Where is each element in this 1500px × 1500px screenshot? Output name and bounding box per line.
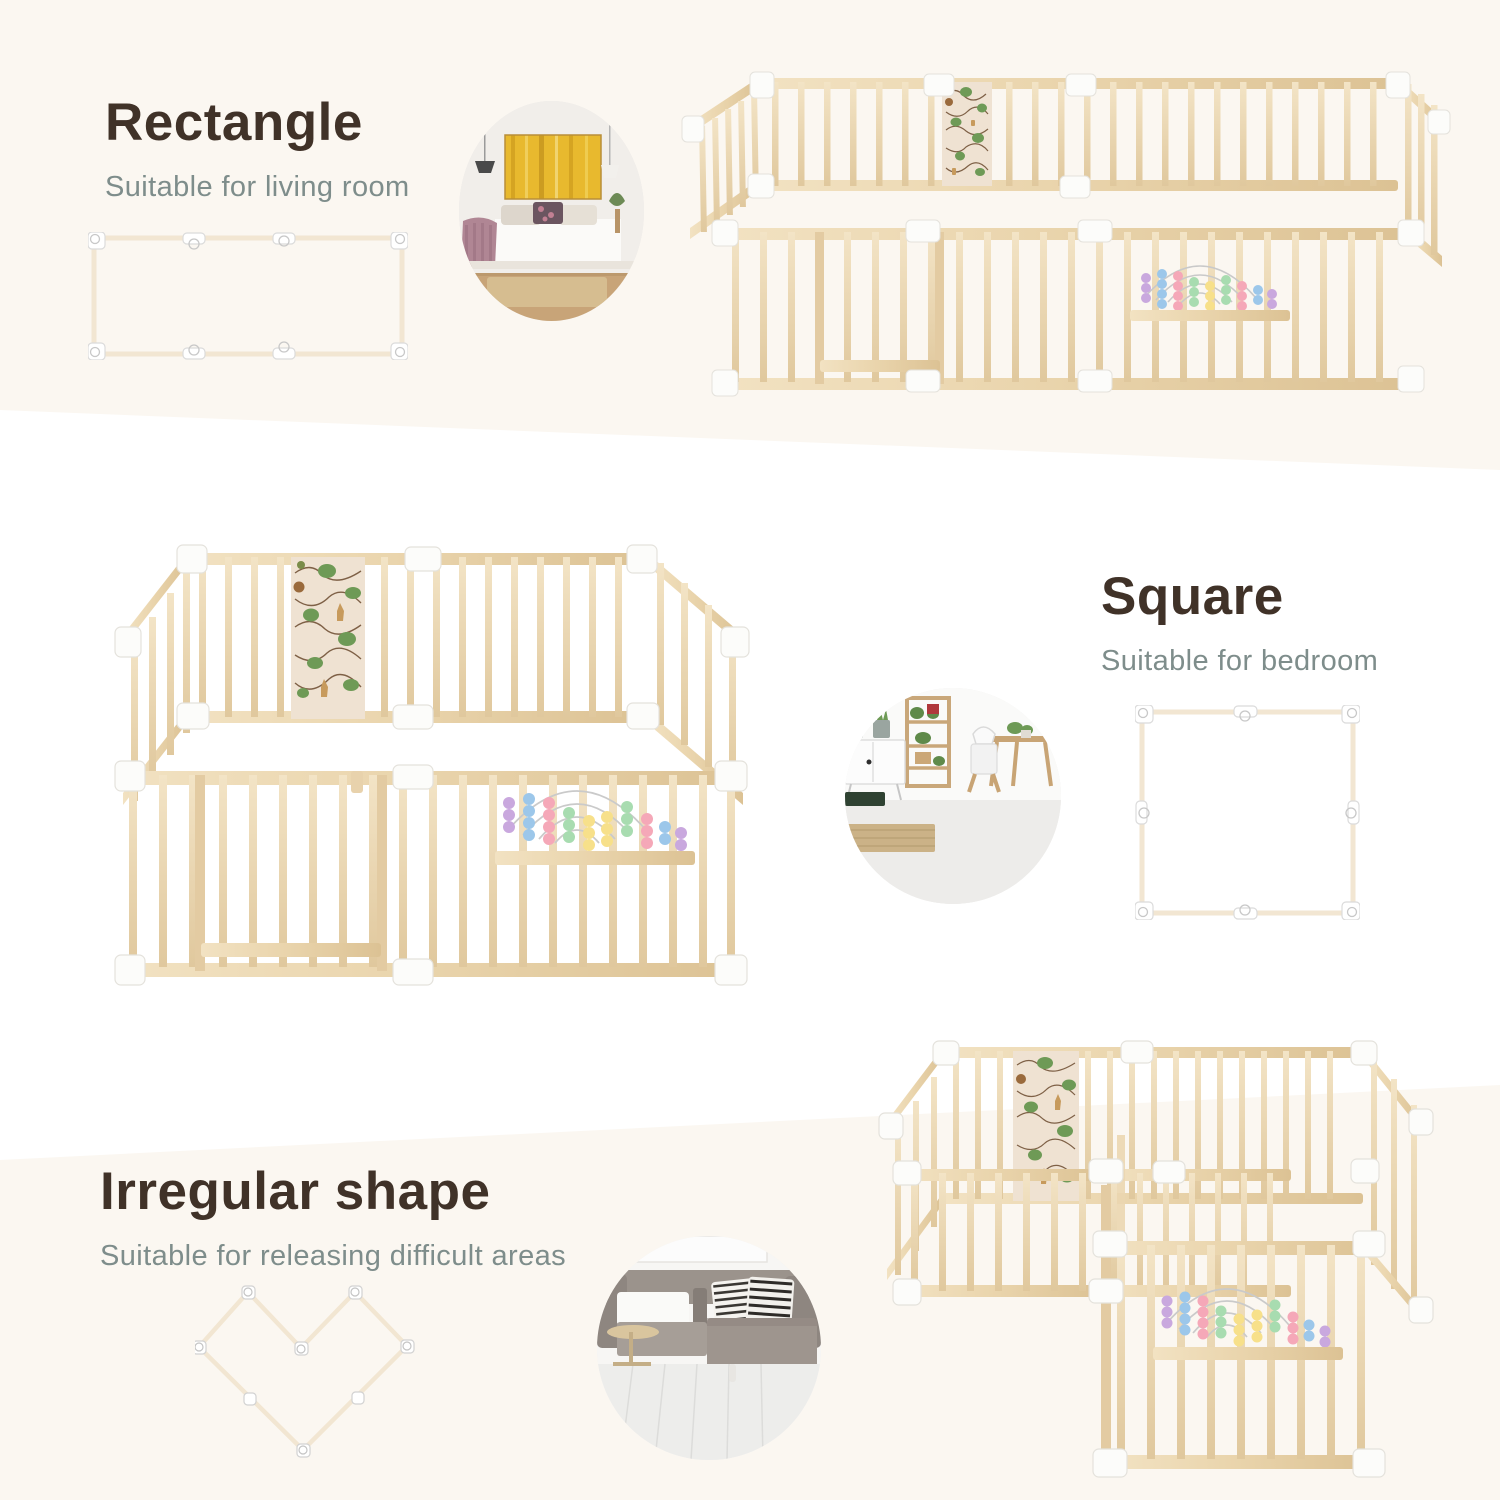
- living-room-scene-photo: [845, 688, 1061, 904]
- square-outline-icon: [1135, 705, 1360, 920]
- maze-activity-board: [942, 82, 992, 186]
- rectangle-playpen-photo: [660, 60, 1450, 405]
- page-title-square: Square: [1101, 570, 1378, 623]
- subtitle-square: Suitable for bedroom: [1101, 645, 1378, 678]
- rectangle-outline-icon: [88, 232, 408, 360]
- subtitle-irregular: Suitable for releasing difficult areas: [100, 1240, 566, 1273]
- square-playpen-photo: [115, 535, 765, 995]
- section-rectangle-text: Rectangle Suitable for living room: [105, 96, 410, 204]
- page-title-irregular: Irregular shape: [100, 1165, 566, 1218]
- bedroom-scene-photo: [459, 101, 644, 321]
- irregular-playpen-photo: [865, 1035, 1445, 1485]
- infographic-stage: Rectangle Suitable for living room Squar…: [0, 0, 1500, 1500]
- sofa-scene-photo: [597, 1236, 821, 1460]
- page-title-rectangle: Rectangle: [105, 96, 410, 149]
- subtitle-rectangle: Suitable for living room: [105, 171, 410, 204]
- irregular-outline-icon: [195, 1272, 495, 1492]
- maze-activity-board: [291, 557, 365, 719]
- section-square-text: Square Suitable for bedroom: [1101, 570, 1378, 678]
- section-irregular-text: Irregular shape Suitable for releasing d…: [100, 1165, 566, 1273]
